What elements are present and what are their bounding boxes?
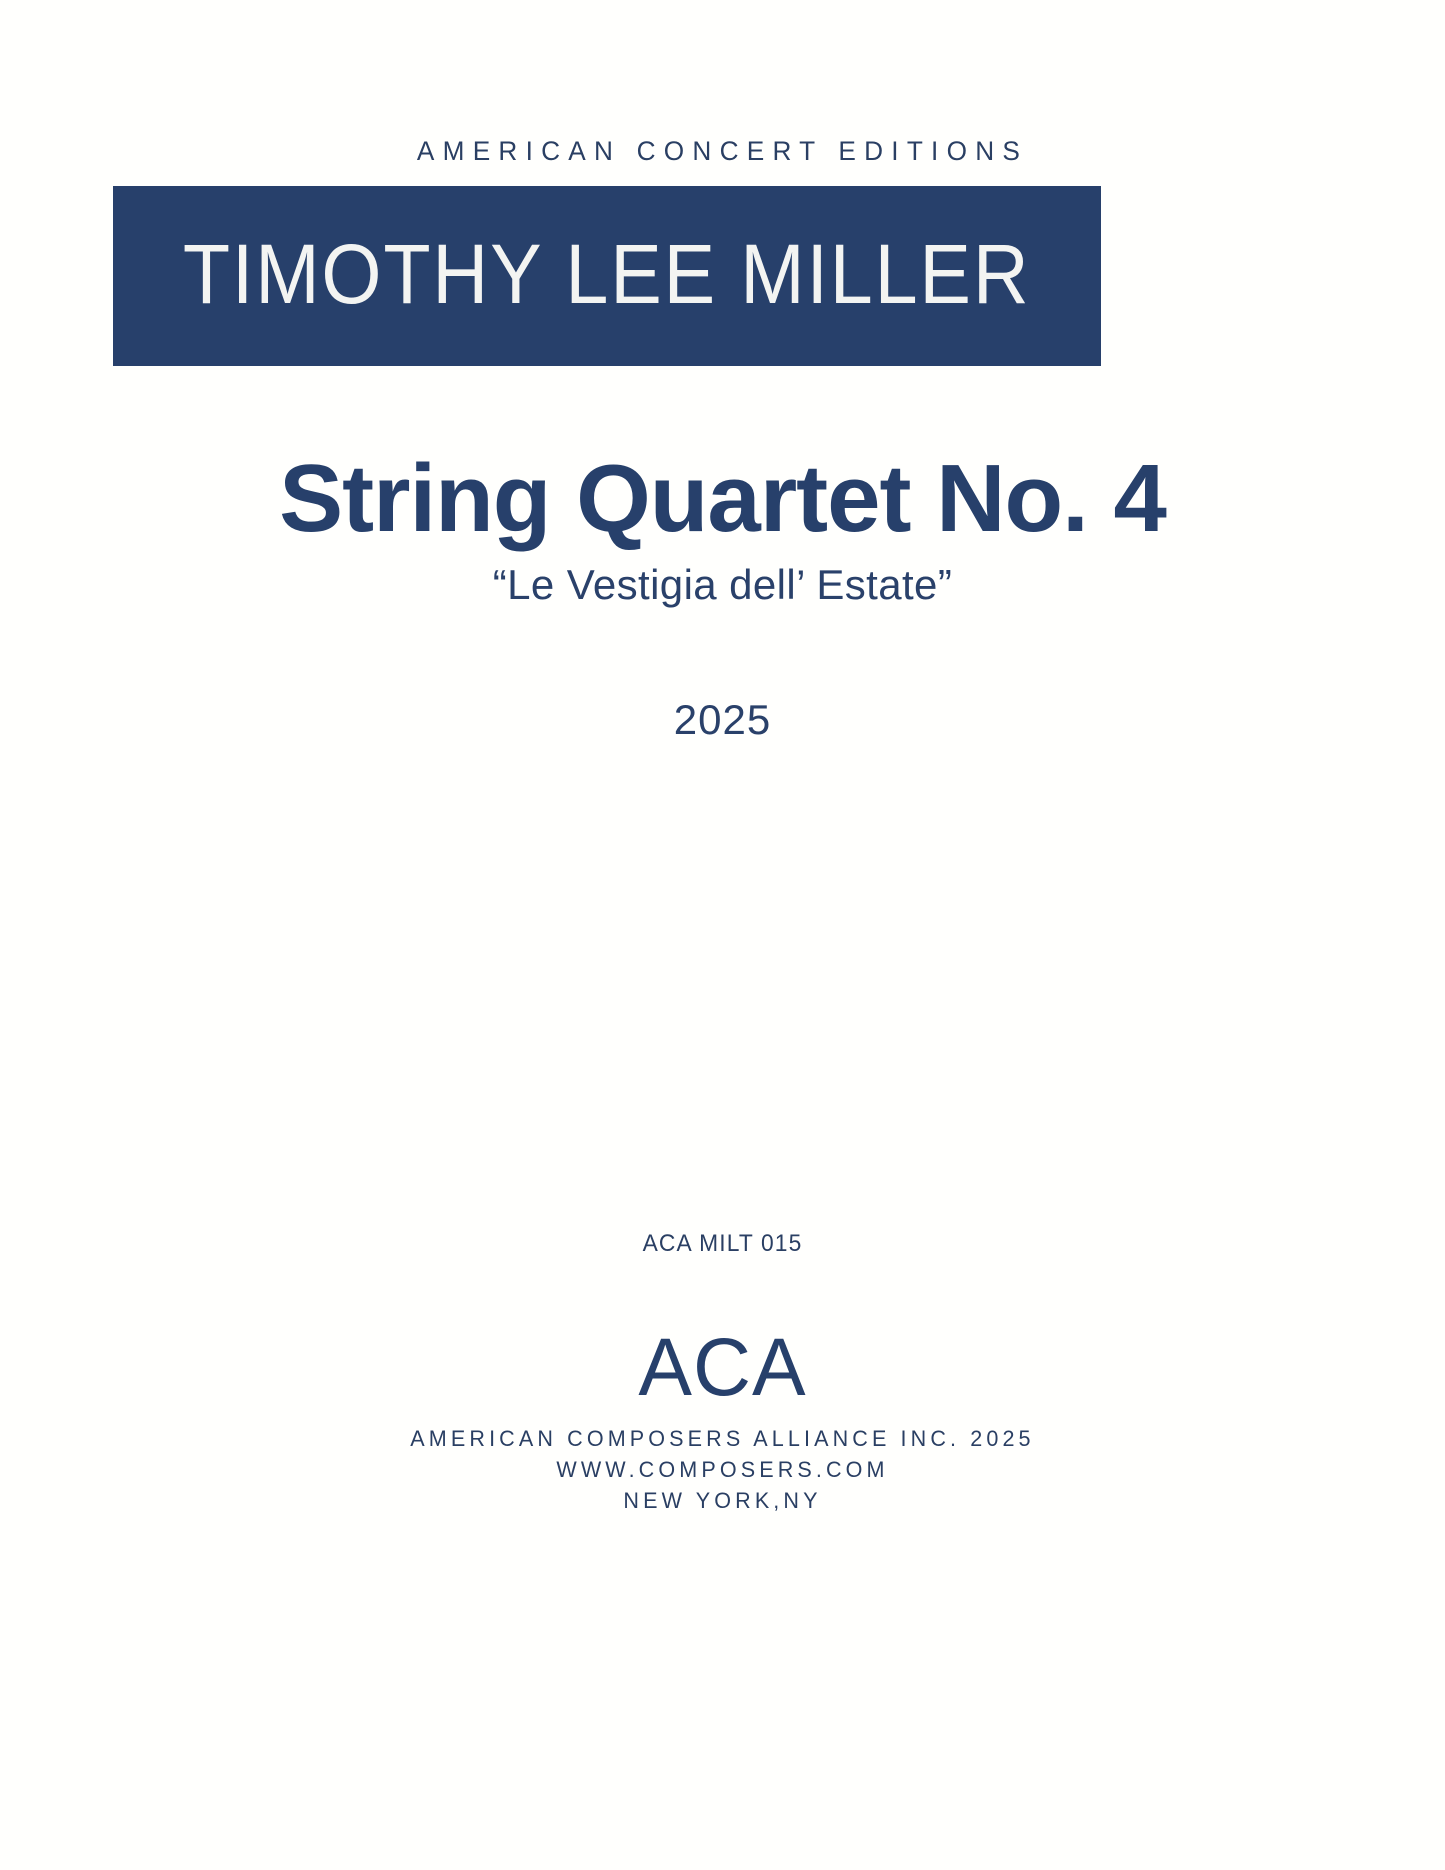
- publisher-name-line: AMERICAN COMPOSERS ALLIANCE INC. 2025: [14, 1423, 1430, 1454]
- composer-banner: TIMOTHY LEE MILLER: [113, 186, 1101, 366]
- publisher-location-line: NEW YORK,NY: [14, 1485, 1430, 1516]
- work-subtitle: “Le Vestigia dell’ Estate”: [0, 560, 1445, 610]
- series-header: AMERICAN CONCERT EDITIONS: [22, 136, 1424, 167]
- aca-logo: ACA: [14, 1327, 1430, 1409]
- publisher-website-line: WWW.COMPOSERS.COM: [14, 1454, 1430, 1485]
- title-page: AMERICAN CONCERT EDITIONS TIMOTHY LEE MI…: [0, 0, 1445, 1870]
- work-year: 2025: [0, 696, 1445, 744]
- publisher-info: AMERICAN COMPOSERS ALLIANCE INC. 2025 WW…: [0, 1423, 1445, 1517]
- work-title: String Quartet No. 4: [0, 447, 1445, 551]
- composer-name: TIMOTHY LEE MILLER: [183, 232, 1031, 316]
- catalog-number: ACA MILT 015: [36, 1230, 1409, 1258]
